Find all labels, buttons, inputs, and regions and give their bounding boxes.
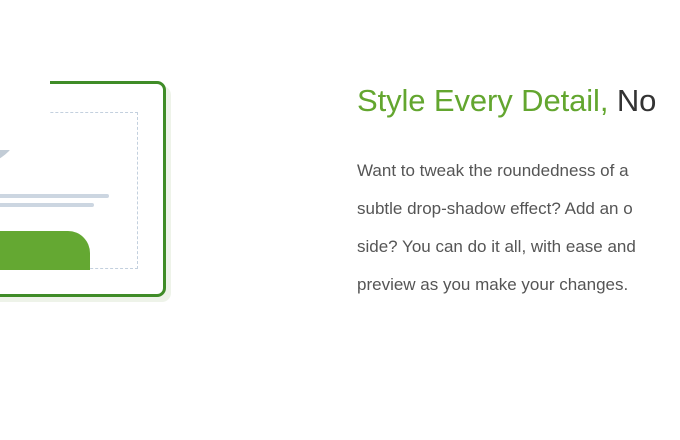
paragraph-line: side? You can do it all, with ease and xyxy=(357,228,680,266)
page-title-accent: Style Every Detail, xyxy=(357,83,608,118)
placeholder-text-line xyxy=(0,194,109,198)
marketing-copy-block: Style Every Detail, No Want to tweak the… xyxy=(357,80,680,304)
paragraph-line: subtle drop-shadow effect? Add an o xyxy=(357,190,680,228)
style-preview-stage: Sign In xyxy=(0,81,166,297)
paragraph-line: preview as you make your changes. xyxy=(357,266,680,304)
style-preview-card[interactable]: Sign In xyxy=(0,81,166,297)
page-title-rest: No xyxy=(608,83,656,118)
sign-in-button[interactable]: Sign In xyxy=(0,231,90,270)
marketing-paragraph: Want to tweak the roundedness of a subtl… xyxy=(357,152,680,304)
page-title: Style Every Detail, No xyxy=(357,80,680,122)
paragraph-line: Want to tweak the roundedness of a xyxy=(357,152,680,190)
avatar-clip-mask xyxy=(0,68,50,150)
dashed-content-outline: Sign In xyxy=(0,112,138,269)
placeholder-text-line xyxy=(0,203,94,207)
